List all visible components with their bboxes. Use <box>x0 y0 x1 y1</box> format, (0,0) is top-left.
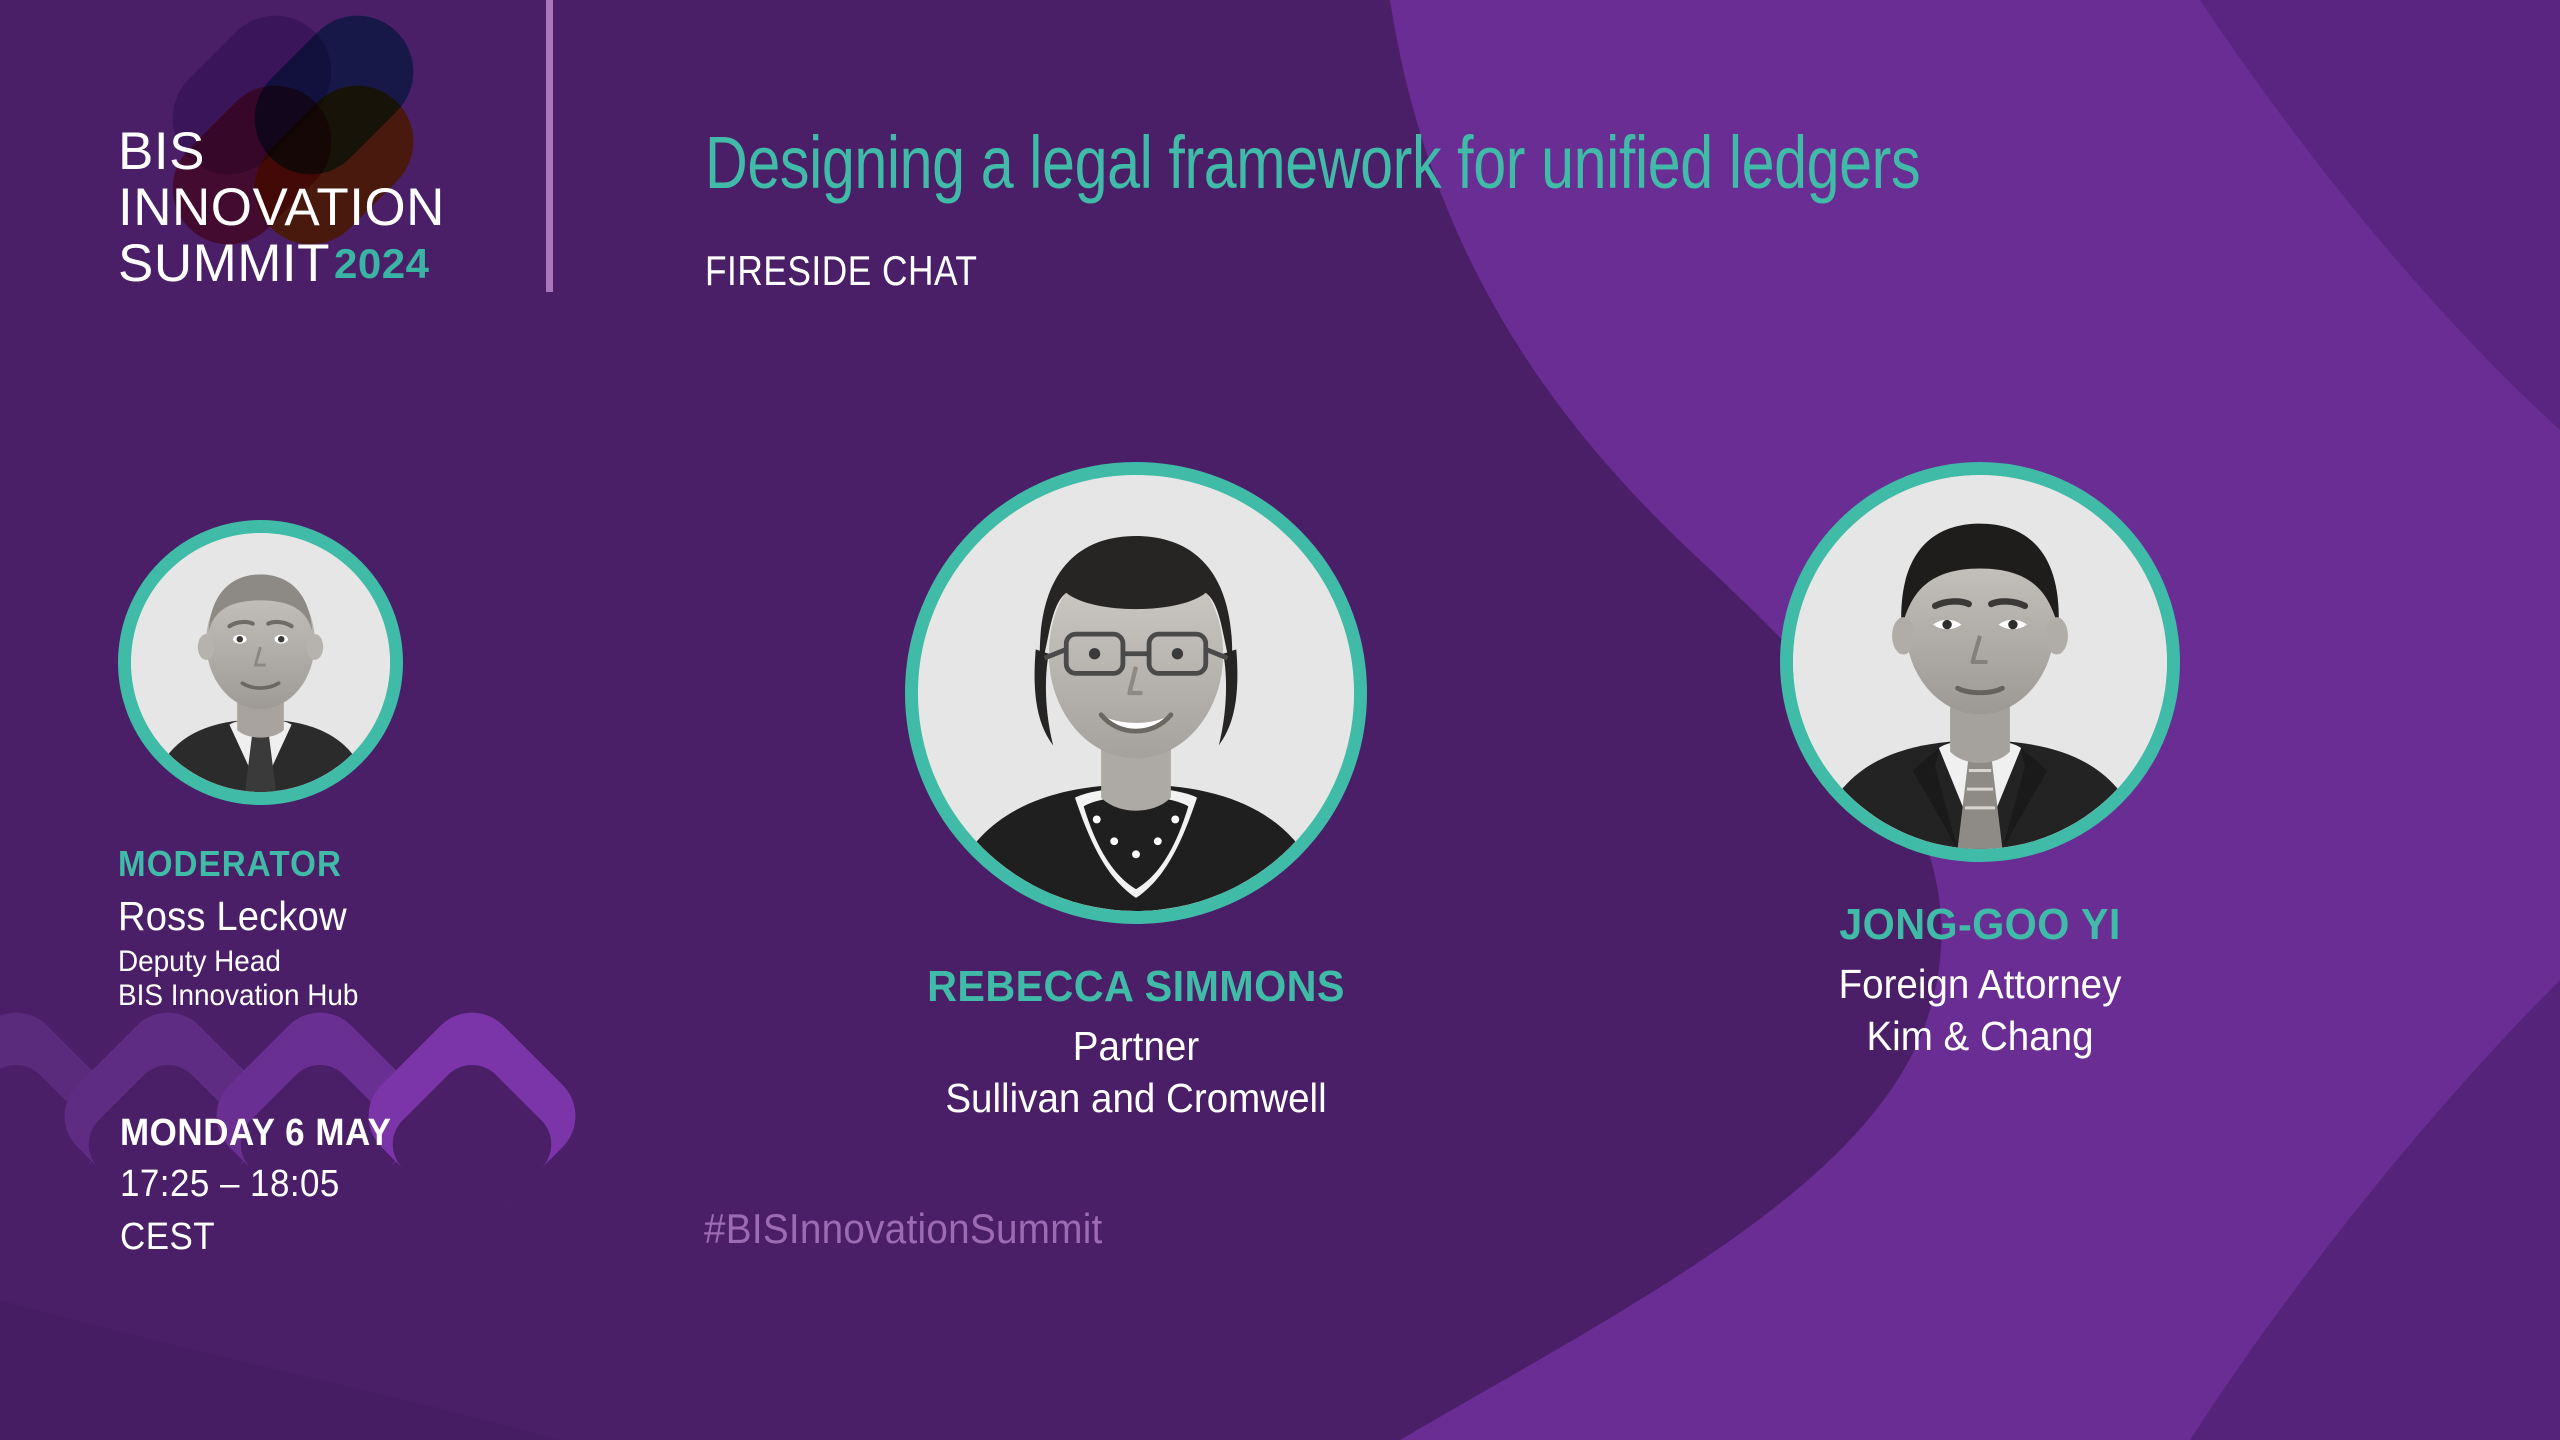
presentation-slide: BIS INNOVATION SUMMIT 2024 Designing a l… <box>0 0 2560 1440</box>
schedule-time: 17:25 – 18:05 <box>120 1160 562 1208</box>
session-format-label: FIRESIDE CHAT <box>705 247 977 295</box>
moderator-block: MODERATOR Ross Leckow Deputy Head BIS In… <box>118 520 538 1013</box>
event-hashtag: #BISInnovationSummit <box>704 1205 1103 1253</box>
schedule-block: MONDAY 6 MAY 17:25 – 18:05 CEST <box>120 1112 600 1261</box>
speaker-role-2: Foreign Attorney <box>1698 958 2262 1010</box>
chevron-1 <box>0 994 138 1237</box>
speaker-portrait-rebecca-simmons <box>905 462 1367 924</box>
header-divider <box>546 0 553 292</box>
speaker-name-2: JONG-GOO YI <box>1698 900 2262 950</box>
speaker-block-1: REBECCA SIMMONS Partner Sullivan and Cro… <box>836 462 1436 1124</box>
moderator-title: Deputy Head <box>118 945 509 979</box>
moderator-name: Ross Leckow <box>118 893 509 940</box>
speaker-organisation-2: Kim & Chang <box>1698 1010 2262 1062</box>
logo-year: 2024 <box>334 240 429 288</box>
speaker-name-1: REBECCA SIMMONS <box>854 962 1418 1012</box>
speaker-role-1: Partner <box>854 1020 1418 1072</box>
moderator-portrait <box>118 520 403 805</box>
schedule-day: MONDAY 6 MAY <box>120 1112 562 1155</box>
speaker-organisation-1: Sullivan and Cromwell <box>854 1072 1418 1124</box>
moderator-role-label: MODERATOR <box>118 843 504 885</box>
speaker-block-2: JONG-GOO YI Foreign Attorney Kim & Chang <box>1680 462 2280 1062</box>
session-title: Designing a legal framework for unified … <box>705 124 1920 202</box>
schedule-timezone: CEST <box>120 1213 562 1261</box>
bis-innovation-summit-logo[interactable]: BIS INNOVATION SUMMIT 2024 <box>118 28 538 298</box>
speaker-portrait-jong-goo-yi <box>1780 462 2180 862</box>
moderator-organisation: BIS Innovation Hub <box>118 979 509 1013</box>
